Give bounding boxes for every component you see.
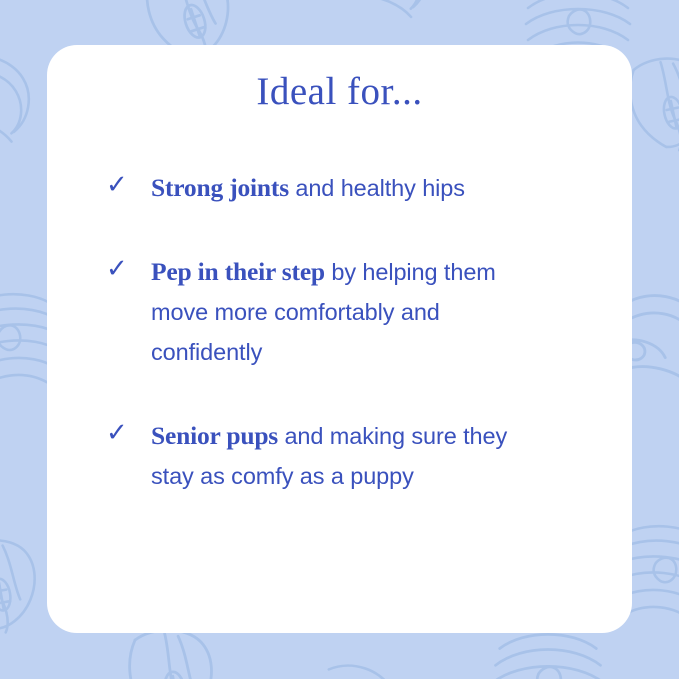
benefit-lead: Senior pups [151, 421, 278, 450]
check-icon: ✓ [105, 168, 151, 202]
ideal-for-card: Ideal for... ✓ Strong joints and healthy… [47, 45, 632, 633]
check-icon: ✓ [105, 416, 151, 450]
benefit-list: ✓ Strong joints and healthy hips ✓ Pep i… [105, 168, 594, 496]
benefit-text: Strong joints and healthy hips [151, 168, 551, 208]
list-item: ✓ Pep in their step by helping them move… [105, 252, 594, 372]
page-title: Ideal for... [47, 72, 632, 113]
benefit-lead: Strong joints [151, 173, 289, 202]
benefit-lead: Pep in their step [151, 257, 325, 286]
list-item: ✓ Senior pups and making sure they stay … [105, 416, 594, 496]
benefit-text: Pep in their step by helping them move m… [151, 252, 551, 372]
benefit-rest: and healthy hips [289, 175, 465, 201]
benefit-text: Senior pups and making sure they stay as… [151, 416, 551, 496]
list-item: ✓ Strong joints and healthy hips [105, 168, 594, 208]
check-icon: ✓ [105, 252, 151, 286]
